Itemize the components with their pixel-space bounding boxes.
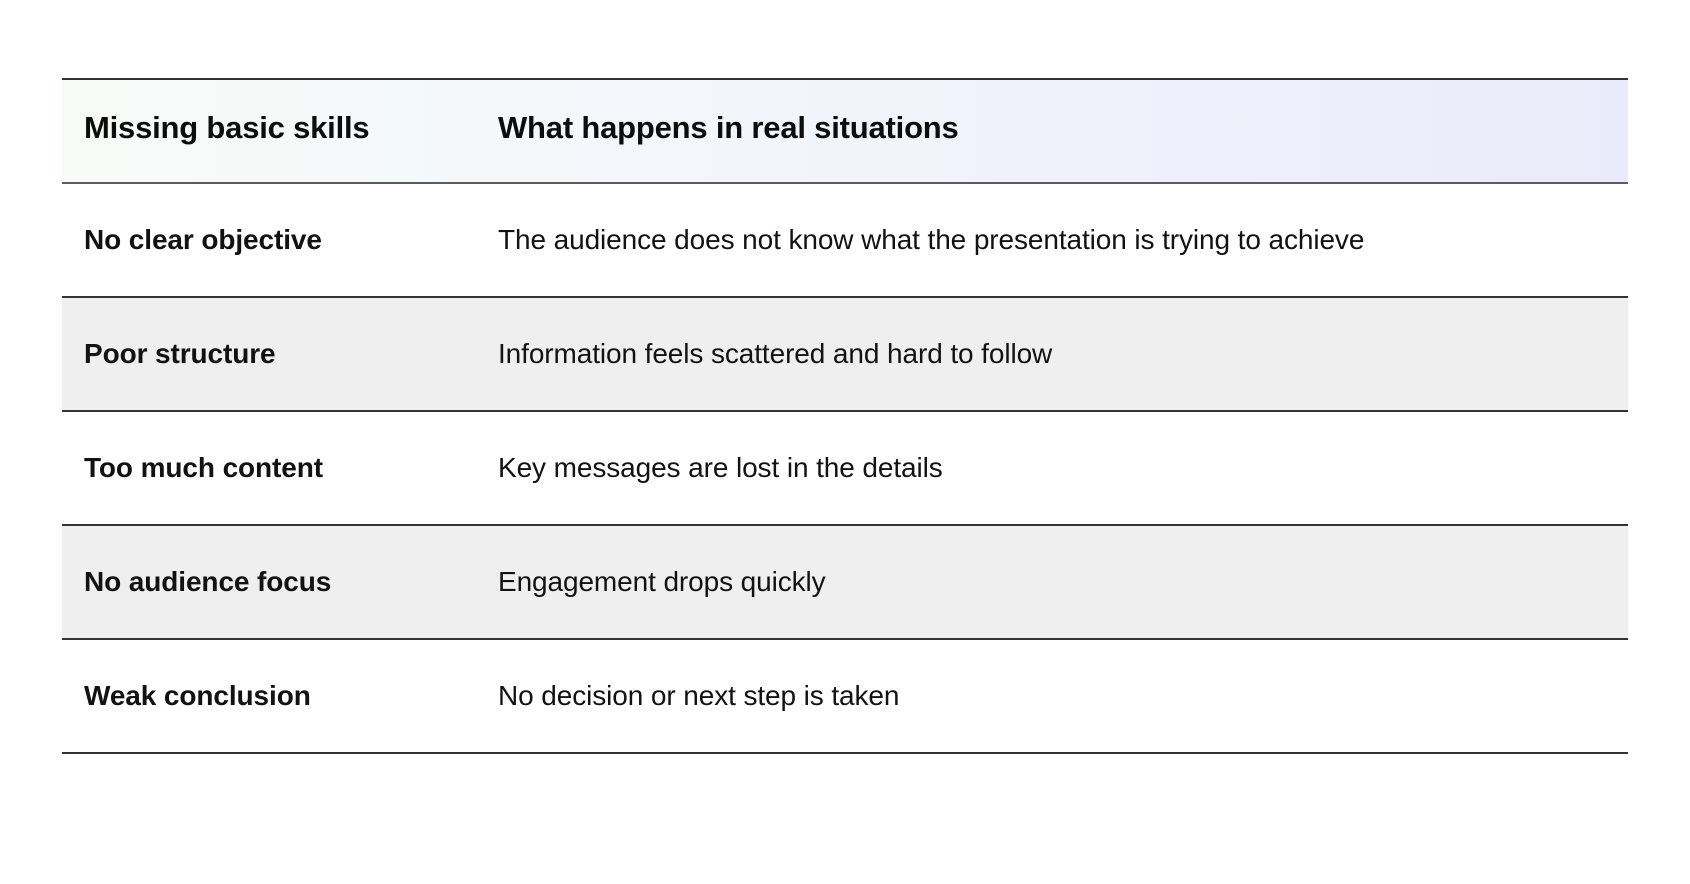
cell-effect: No decision or next step is taken	[480, 639, 1628, 753]
slide-canvas: Missing basic skills What happens in rea…	[0, 0, 1690, 884]
comparison-table: Missing basic skills What happens in rea…	[62, 78, 1628, 754]
table-body: No clear objective The audience does not…	[62, 183, 1628, 753]
column-header-what-happens-in-real-situations: What happens in real situations	[480, 79, 1628, 183]
table-row: No audience focus Engagement drops quick…	[62, 525, 1628, 639]
cell-skill: No audience focus	[62, 525, 480, 639]
table-row: Weak conclusion No decision or next step…	[62, 639, 1628, 753]
column-header-missing-basic-skills: Missing basic skills	[62, 79, 480, 183]
table-header-row: Missing basic skills What happens in rea…	[62, 79, 1628, 183]
cell-effect: Engagement drops quickly	[480, 525, 1628, 639]
table-row: Too much content Key messages are lost i…	[62, 411, 1628, 525]
cell-skill: Weak conclusion	[62, 639, 480, 753]
cell-skill: Poor structure	[62, 297, 480, 411]
cell-effect: Key messages are lost in the details	[480, 411, 1628, 525]
comparison-table-container: Missing basic skills What happens in rea…	[62, 78, 1628, 754]
cell-effect: Information feels scattered and hard to …	[480, 297, 1628, 411]
table-header: Missing basic skills What happens in rea…	[62, 79, 1628, 183]
cell-skill: No clear objective	[62, 183, 480, 297]
table-row: No clear objective The audience does not…	[62, 183, 1628, 297]
cell-effect: The audience does not know what the pres…	[480, 183, 1628, 297]
table-row: Poor structure Information feels scatter…	[62, 297, 1628, 411]
cell-skill: Too much content	[62, 411, 480, 525]
